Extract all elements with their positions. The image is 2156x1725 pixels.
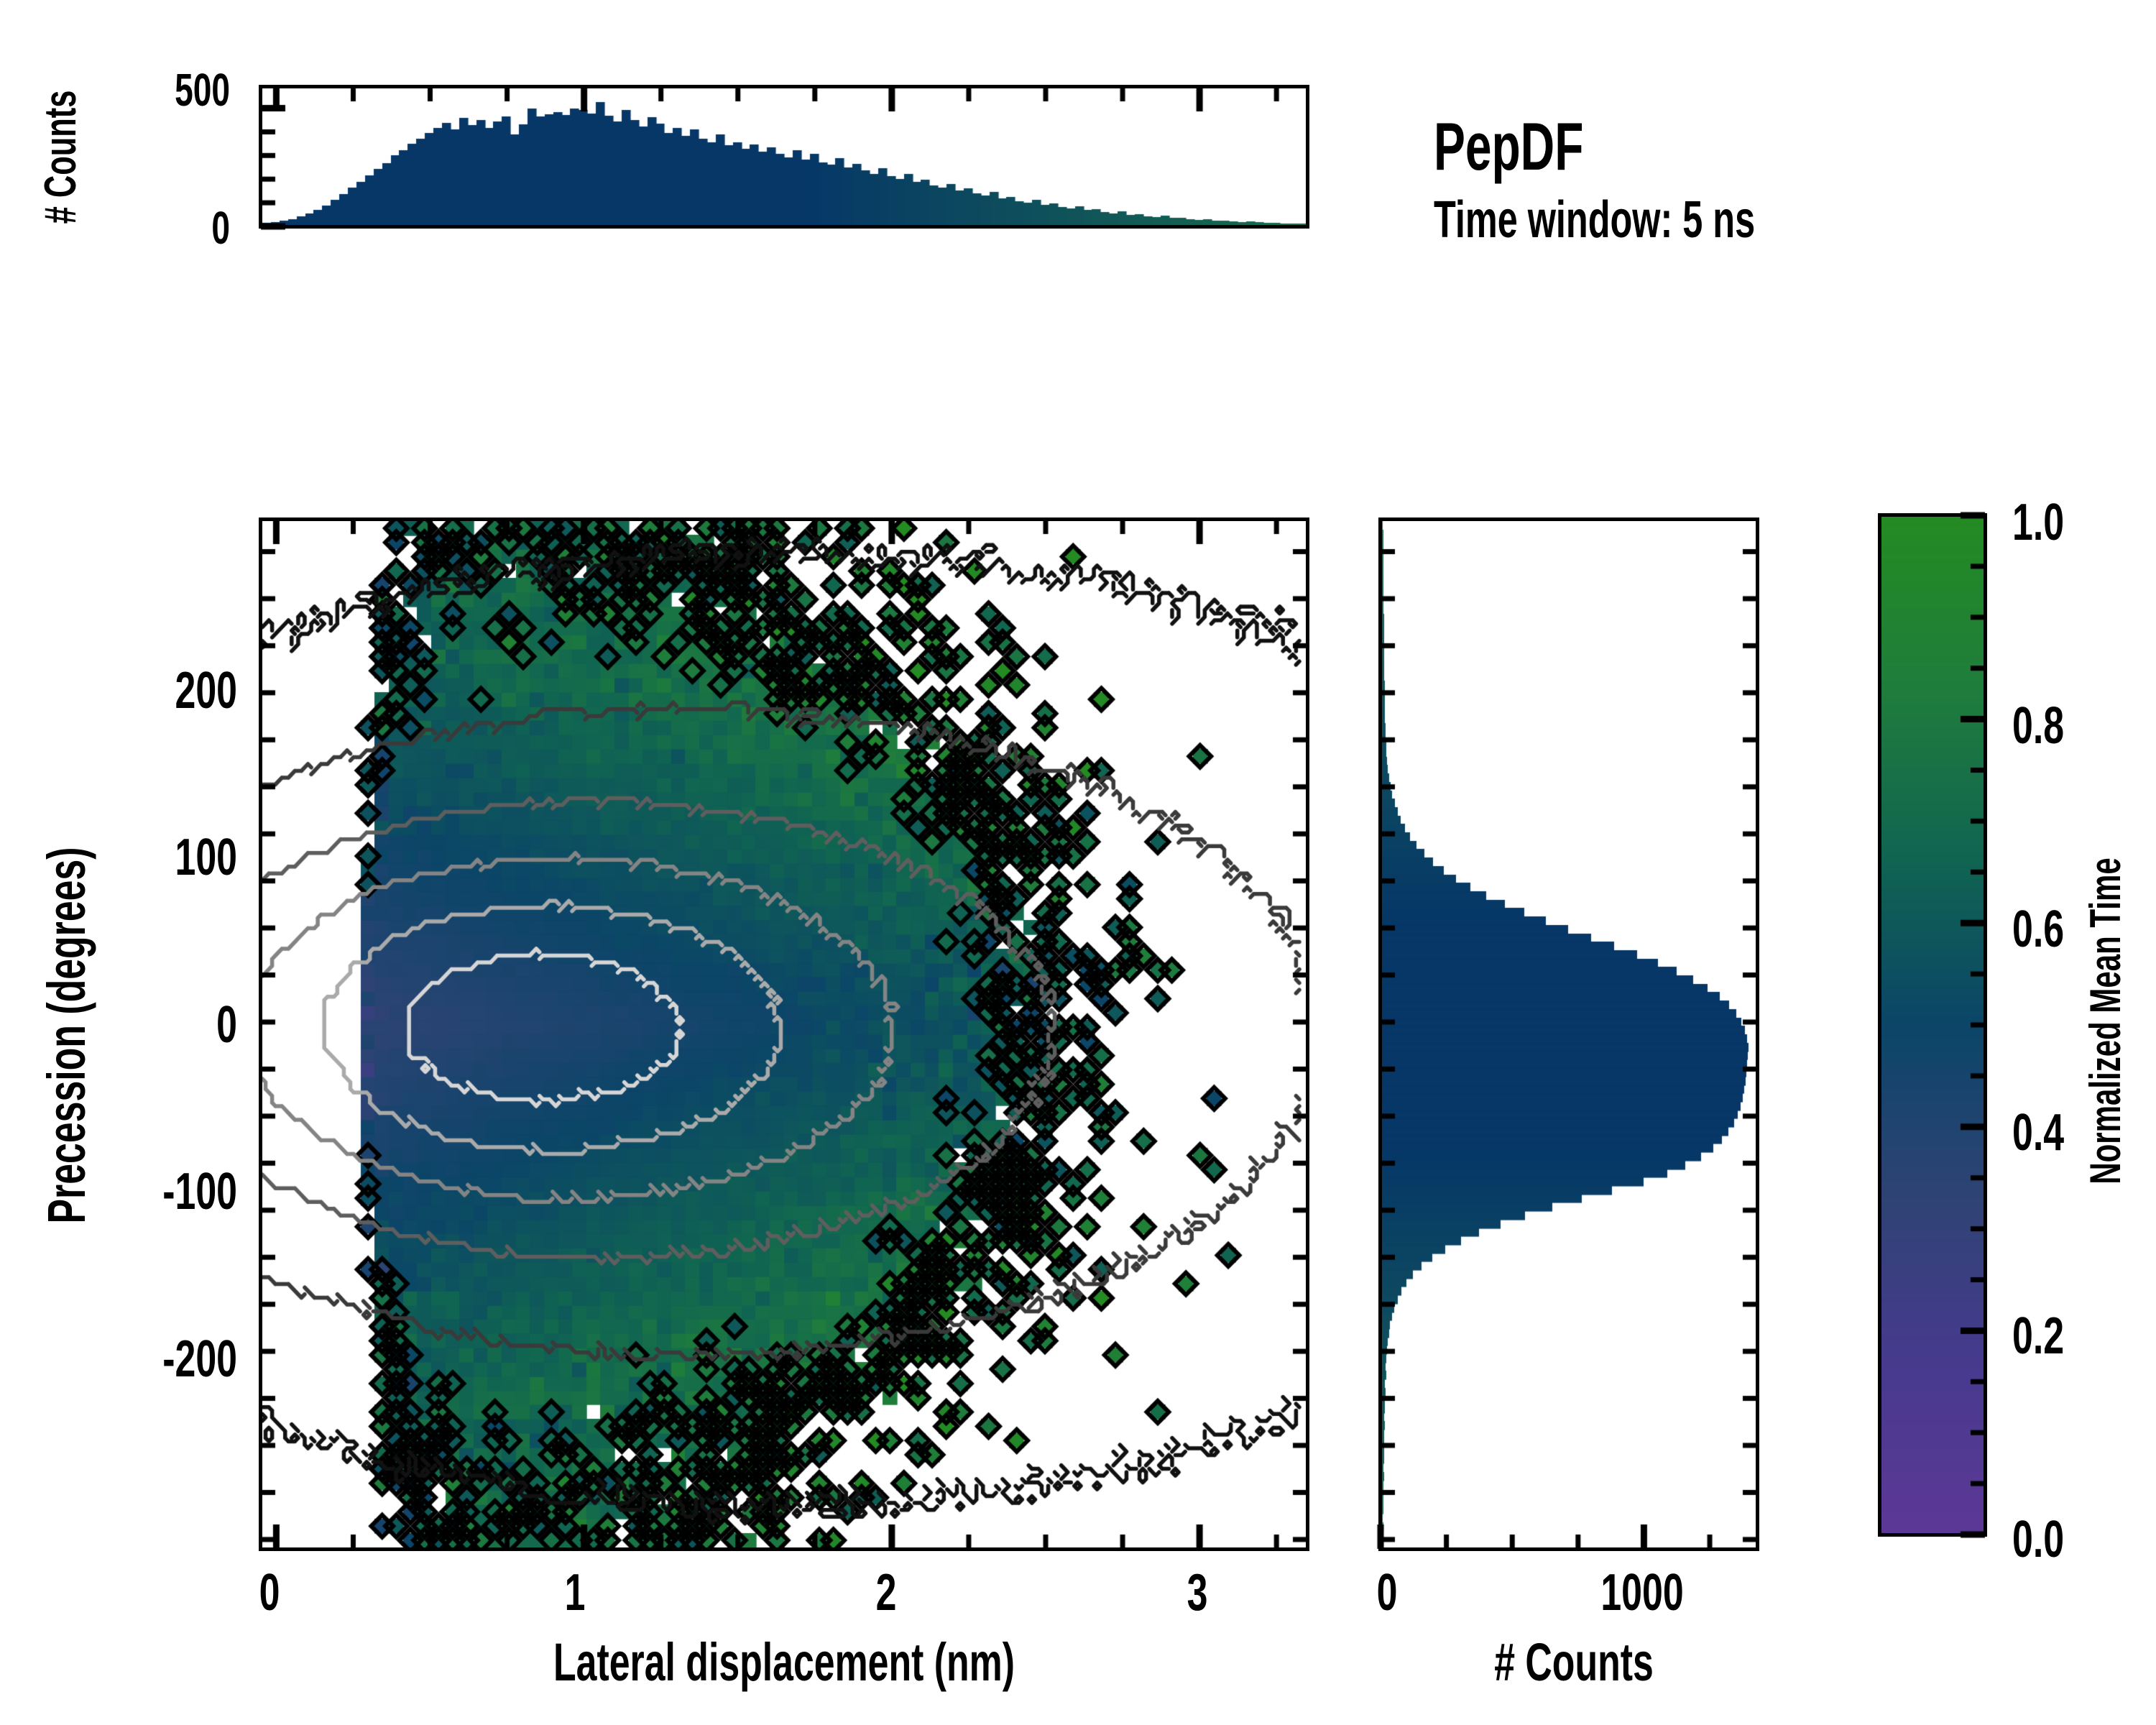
right-panel-xlabel: # Counts (1443, 1632, 1705, 1693)
right-xtick-1000: 1000 (1565, 1563, 1720, 1622)
main-xtick-1: 1 (497, 1563, 653, 1622)
top-panel-ylabel: # Counts (29, 85, 93, 229)
main-xtick-3: 3 (1120, 1563, 1275, 1622)
main-panel-xlabel: Lateral displacement (nm) (407, 1632, 1161, 1693)
top-histogram-canvas (262, 88, 1306, 225)
colorbar (1878, 513, 1987, 1537)
top-marginal-histogram-panel (259, 85, 1309, 229)
colorbar-tick-0-0: 0.0 (2012, 1510, 2156, 1569)
figure-subtitle: Time window: 5 ns (1434, 190, 1755, 249)
colorbar-gradient-canvas (1881, 517, 1984, 1533)
colorbar-tick-1-0: 1.0 (2012, 493, 2156, 552)
figure-title: PepDF (1434, 108, 1583, 185)
colorbar-label: Normalized Mean Time (2070, 733, 2142, 1308)
main-xtick-2: 2 (808, 1563, 964, 1622)
right-histogram-canvas (1382, 521, 1756, 1547)
right-xtick-0: 0 (1309, 1563, 1465, 1622)
main-2d-histogram-panel (259, 517, 1309, 1551)
colorbar-tick-0-2: 0.2 (2012, 1307, 2156, 1366)
main-heatmap-canvas (262, 521, 1306, 1547)
right-marginal-histogram-panel (1378, 517, 1759, 1551)
main-xtick-0: 0 (192, 1563, 347, 1622)
main-panel-ylabel: Precession (degrees) (30, 546, 102, 1524)
